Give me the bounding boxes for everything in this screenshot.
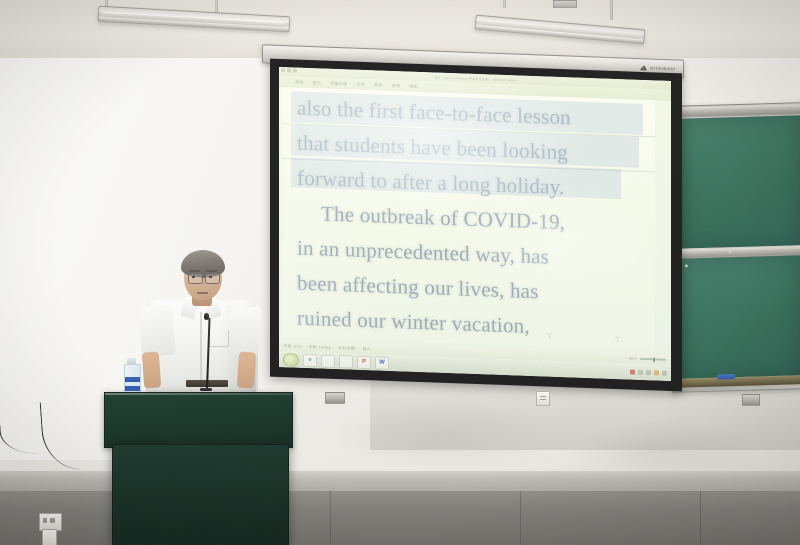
word-icon[interactable]: W: [375, 356, 389, 370]
ribbon-tab-references[interactable]: 引用: [356, 81, 365, 87]
ceiling-mount-bracket: [553, 0, 577, 8]
mitsubishi-logo: MITSUBISHI: [640, 65, 675, 72]
doc-line-text: The outbreak of COVID-19,: [321, 201, 565, 234]
floor-seam: [330, 491, 331, 545]
glasses-bridge: [201, 277, 205, 278]
tray-icon[interactable]: [646, 370, 651, 375]
powerpoint-icon[interactable]: P: [357, 355, 371, 369]
status-insert-mode: 插入: [363, 346, 371, 351]
status-language: 中文(中国): [338, 346, 356, 352]
blackboard-frame: [672, 102, 800, 393]
wall-switch-center[interactable]: [536, 391, 550, 406]
classroom-photo: MITSUBISHI 课文 - Microsoft Word (产品激活失败) …: [0, 0, 800, 545]
quick-access-toolbar[interactable]: [281, 68, 297, 73]
screen-brand-label: MITSUBISHI: [650, 65, 675, 71]
document-text-area[interactable]: also the first face-to-face lesson that …: [283, 87, 655, 350]
zoom-slider[interactable]: [640, 358, 666, 361]
media-icon[interactable]: [339, 355, 353, 369]
power-outlet-lower[interactable]: [42, 529, 57, 545]
eyebrow-right: [206, 270, 217, 272]
podium-texture: [113, 445, 288, 545]
mitsubishi-mark-icon: [640, 65, 647, 71]
mouth: [197, 292, 208, 294]
ribbon-tab-review[interactable]: 审阅: [392, 82, 401, 88]
eyebrow-left: [189, 270, 200, 272]
nose: [202, 281, 204, 285]
blue-marker: [717, 374, 735, 380]
status-zoom-level: 90%: [629, 356, 637, 360]
blackboard-panel-upper: [681, 115, 800, 248]
eye-right: [209, 276, 212, 278]
wall-bracket-left: [325, 392, 345, 404]
floor-seam: [700, 491, 701, 545]
redo-icon[interactable]: [293, 68, 297, 72]
microphone-head: [204, 313, 209, 320]
speaker-right-sleeve: [226, 305, 262, 358]
light-hanger-rod: [610, 0, 613, 20]
status-word-count: 字数: 19/361: [309, 345, 331, 351]
save-icon[interactable]: [281, 68, 285, 72]
floor-seam: [520, 491, 521, 545]
projection-screen-frame: 课文 - Microsoft Word (产品激活失败) - Microsoft…: [270, 59, 682, 392]
speaker-left-forearm: [142, 351, 161, 388]
podium-top: [104, 392, 293, 448]
projected-word-document: 课文 - Microsoft Word (产品激活失败) - Microsoft…: [279, 67, 671, 381]
rail-screw: [729, 250, 732, 253]
tray-icon[interactable]: [638, 369, 643, 374]
glasses-right-lens: [205, 273, 220, 284]
ribbon-tab-home[interactable]: 开始: [295, 79, 304, 85]
tray-icon[interactable]: [630, 369, 635, 374]
doc-line-text: forward to after a long holiday.: [297, 166, 564, 200]
podium-body: [112, 444, 289, 545]
doc-line-text: been affecting our lives, has: [297, 271, 539, 304]
browser-icon[interactable]: e: [303, 353, 317, 367]
ribbon-tab-insert[interactable]: 插入: [313, 80, 322, 86]
speaker-left-sleeve: [138, 305, 176, 358]
podium-texture: [105, 393, 292, 447]
status-zoom-controls[interactable]: 90%: [629, 356, 666, 361]
bottle-label: [125, 377, 140, 391]
start-button[interactable]: [283, 353, 299, 367]
microphone-base: [200, 388, 212, 391]
ribbon-tab-view[interactable]: 视图: [409, 83, 418, 89]
speaker-right-forearm: [237, 351, 256, 388]
light-hanger-rod: [503, 0, 506, 8]
podium-top-edge: [105, 393, 292, 395]
wall-bracket-right: [742, 394, 760, 406]
glasses-left-lens: [188, 273, 203, 284]
tray-icon[interactable]: [662, 370, 667, 375]
bottle-cap: [127, 358, 136, 365]
undo-icon[interactable]: [287, 68, 291, 72]
shirt-pocket: [209, 330, 229, 347]
image-viewer-icon[interactable]: [321, 354, 335, 368]
water-bottle: [124, 364, 141, 394]
bottle-label-stripe: [125, 382, 140, 386]
status-page-number: 页面: 2/13: [284, 344, 302, 350]
system-tray[interactable]: [630, 369, 667, 375]
doc-line-text: in an unprecedented way, has: [297, 236, 549, 269]
word-document-title: 课文 - Microsoft Word (产品激活失败) - Microsoft…: [434, 75, 515, 82]
tray-icon[interactable]: [654, 370, 659, 375]
eye-left: [192, 276, 195, 278]
ribbon-tab-page-layout[interactable]: 页面布局: [330, 80, 347, 87]
projection-screen-surface: 课文 - Microsoft Word (产品激活失败) - Microsoft…: [279, 67, 671, 381]
shirt-placket: [200, 312, 202, 390]
ribbon-tab-mailings[interactable]: 邮件: [374, 82, 383, 88]
blackboard-panel-lower: [681, 255, 800, 378]
